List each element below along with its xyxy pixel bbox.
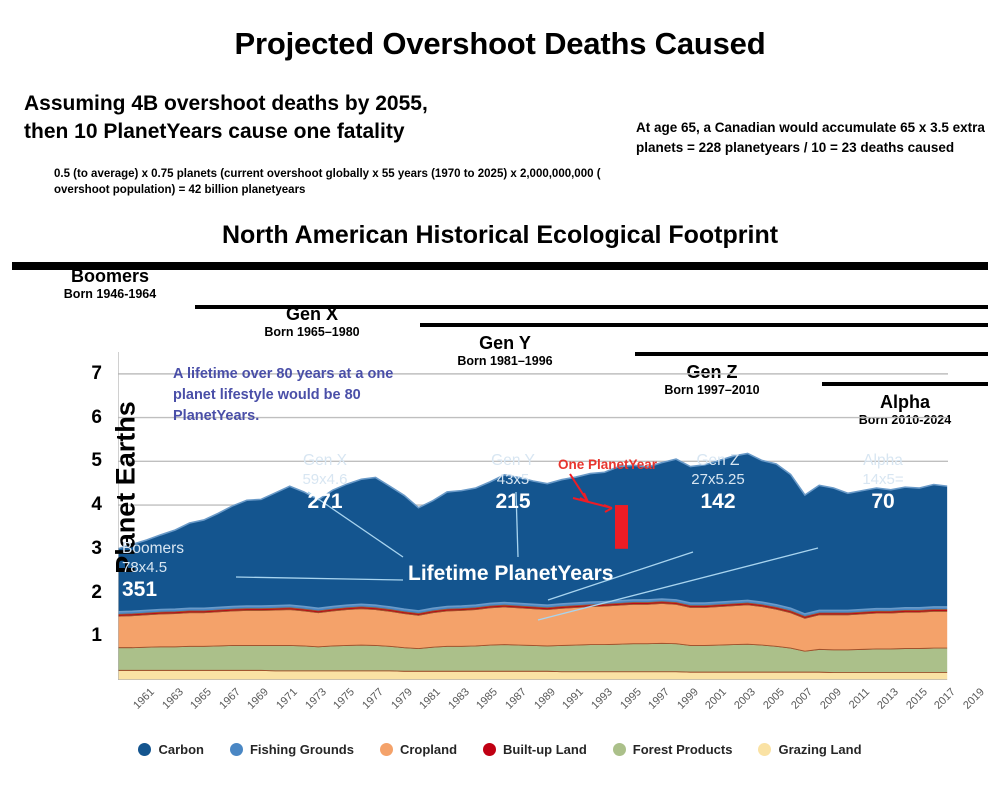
legend-swatch-icon	[613, 743, 626, 756]
assumption-text: Assuming 4B overshoot deaths by 2055, th…	[24, 90, 624, 145]
x-tick-2011: 2011	[846, 686, 871, 711]
lifetime-planetyears-label: Lifetime PlanetYears	[408, 562, 613, 586]
x-tick-2003: 2003	[732, 686, 758, 712]
x-tick-1995: 1995	[618, 686, 644, 712]
x-tick-1969: 1969	[246, 686, 272, 712]
x-tick-2007: 2007	[789, 686, 815, 712]
legend-label: Grazing Land	[778, 742, 861, 757]
legend-item-fishing-grounds[interactable]: Fishing Grounds	[230, 742, 354, 757]
legend-label: Built-up Land	[503, 742, 587, 757]
generation-header-genx: Gen X Born 1965–1980	[232, 304, 392, 340]
y-tick-1: 1	[91, 625, 102, 647]
legend-swatch-icon	[758, 743, 771, 756]
legend-swatch-icon	[138, 743, 151, 756]
legend-item-cropland[interactable]: Cropland	[380, 742, 457, 757]
y-tick-7: 7	[91, 363, 102, 385]
y-tick-3: 3	[91, 538, 102, 560]
legend-item-carbon[interactable]: Carbon	[138, 742, 204, 757]
chart-legend: CarbonFishing GroundsCroplandBuilt-up La…	[0, 742, 1000, 757]
legend-label: Fishing Grounds	[250, 742, 354, 757]
x-tick-2017: 2017	[933, 686, 959, 712]
fineprint-calculation: 0.5 (to average) x 0.75 planets (current…	[54, 166, 614, 199]
x-tick-1981: 1981	[417, 686, 443, 712]
legend-item-forest-products[interactable]: Forest Products	[613, 742, 733, 757]
inchart-label-genx: Gen X 59x4.6 271	[270, 452, 380, 514]
y-tick-5: 5	[91, 450, 102, 472]
x-tick-2009: 2009	[818, 686, 844, 712]
one-planetyear-label: One PlanetYear	[558, 457, 657, 472]
legend-label: Carbon	[158, 742, 204, 757]
inchart-label-boomers: Boomers 78x4.5 351	[122, 540, 222, 602]
x-tick-1983: 1983	[446, 686, 472, 712]
x-tick-1991: 1991	[560, 686, 586, 712]
x-tick-2001: 2001	[704, 686, 730, 712]
legend-label: Forest Products	[633, 742, 733, 757]
x-tick-1977: 1977	[360, 686, 386, 712]
x-tick-1973: 1973	[303, 686, 329, 712]
assumption-line-1: Assuming 4B overshoot deaths by 2055,	[24, 90, 624, 118]
chart-title: North American Historical Ecological Foo…	[0, 221, 1000, 250]
page-title: Projected Overshoot Deaths Caused	[0, 26, 1000, 62]
legend-swatch-icon	[230, 743, 243, 756]
generation-header-boomers: Boomers Born 1946-1964	[30, 266, 190, 302]
x-tick-2005: 2005	[761, 686, 787, 712]
x-tick-1967: 1967	[217, 686, 243, 712]
y-tick-2: 2	[91, 582, 102, 604]
x-tick-2019: 2019	[961, 686, 987, 712]
assumption-line-2: then 10 PlanetYears cause one fatality	[24, 118, 624, 146]
x-tick-1979: 1979	[389, 686, 415, 712]
x-tick-2013: 2013	[875, 686, 901, 712]
legend-item-grazing-land[interactable]: Grazing Land	[758, 742, 861, 757]
x-tick-1997: 1997	[646, 686, 672, 712]
y-tick-4: 4	[91, 494, 102, 516]
legend-item-built-up-land[interactable]: Built-up Land	[483, 742, 587, 757]
x-tick-1993: 1993	[589, 686, 615, 712]
x-tick-1975: 1975	[332, 686, 358, 712]
lifetime-blue-note: A lifetime over 80 years at a one planet…	[173, 364, 413, 427]
x-tick-2015: 2015	[904, 686, 930, 712]
generation-bar-geny	[420, 323, 988, 327]
legend-swatch-icon	[483, 743, 496, 756]
inchart-label-alpha: Alpha 14x5= 70	[828, 452, 938, 514]
x-tick-1987: 1987	[503, 686, 529, 712]
x-tick-1989: 1989	[532, 686, 558, 712]
one-planetyear-marker	[615, 505, 628, 549]
x-tick-1971: 1971	[274, 686, 300, 712]
legend-swatch-icon	[380, 743, 393, 756]
x-tick-1965: 1965	[188, 686, 214, 712]
inchart-label-geny: Gen Y 43x5 215	[458, 452, 568, 514]
x-tick-1961: 1961	[131, 686, 157, 712]
inchart-label-genz: Gen Z 27x5.25 142	[658, 452, 778, 514]
x-tick-1963: 1963	[160, 686, 186, 712]
x-tick-1985: 1985	[475, 686, 501, 712]
x-tick-1999: 1999	[675, 686, 701, 712]
y-tick-6: 6	[91, 407, 102, 429]
legend-label: Cropland	[400, 742, 457, 757]
canadian-note: At age 65, a Canadian would accumulate 6…	[636, 118, 986, 157]
